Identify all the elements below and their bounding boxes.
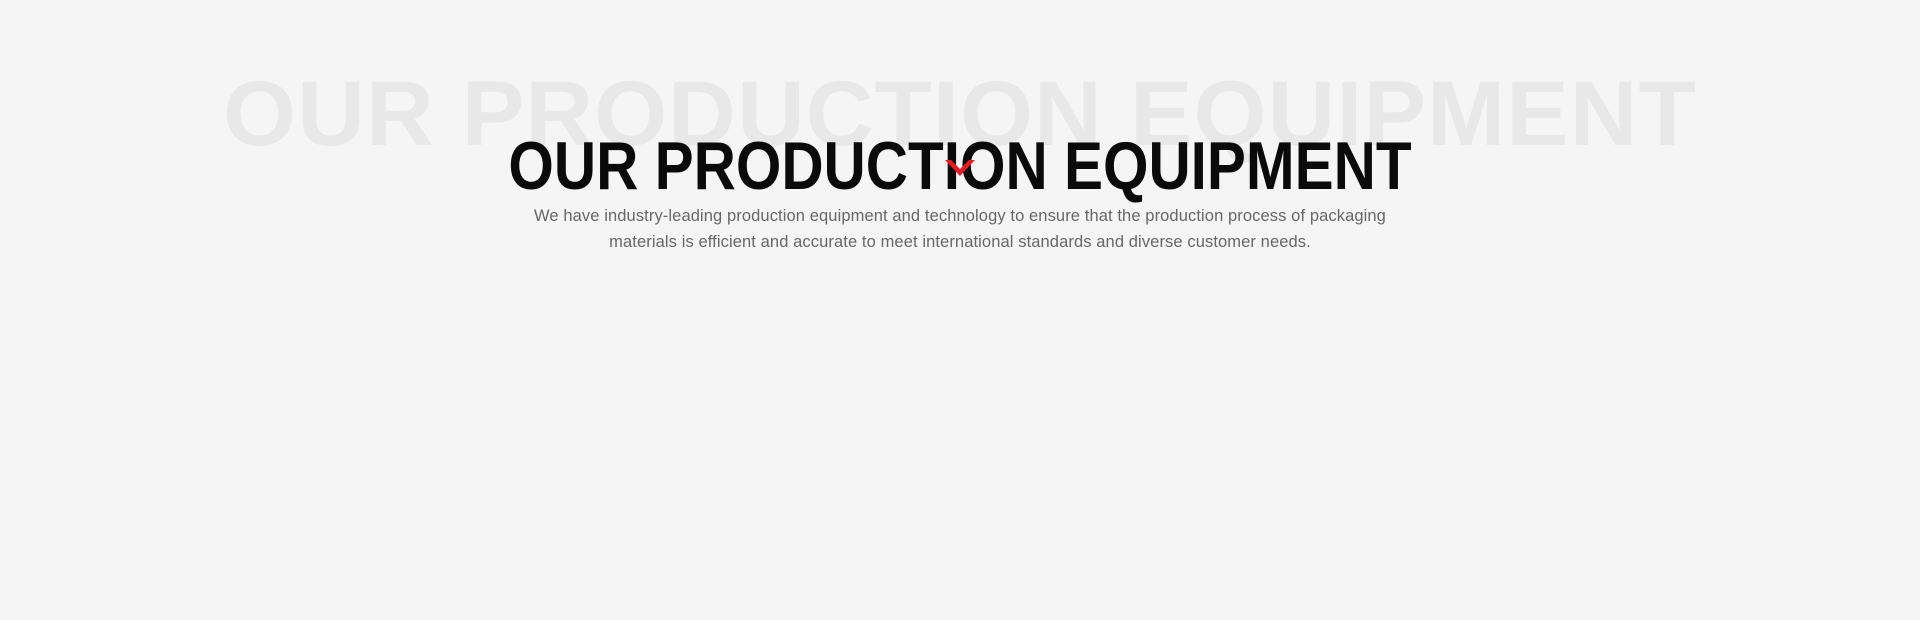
- section-description: We have industry-leading production equi…: [520, 203, 1400, 255]
- title-stack: OUR PRODUCTION EQUIPMENT OUR PRODUCTION …: [0, 0, 1920, 120]
- chevron-down-icon: [945, 160, 975, 176]
- page-root: OUR PRODUCTION EQUIPMENT OUR PRODUCTION …: [0, 0, 1920, 620]
- title-divider: [0, 160, 1920, 182]
- section-header: OUR PRODUCTION EQUIPMENT OUR PRODUCTION …: [0, 0, 1920, 260]
- content-area: [0, 260, 1920, 620]
